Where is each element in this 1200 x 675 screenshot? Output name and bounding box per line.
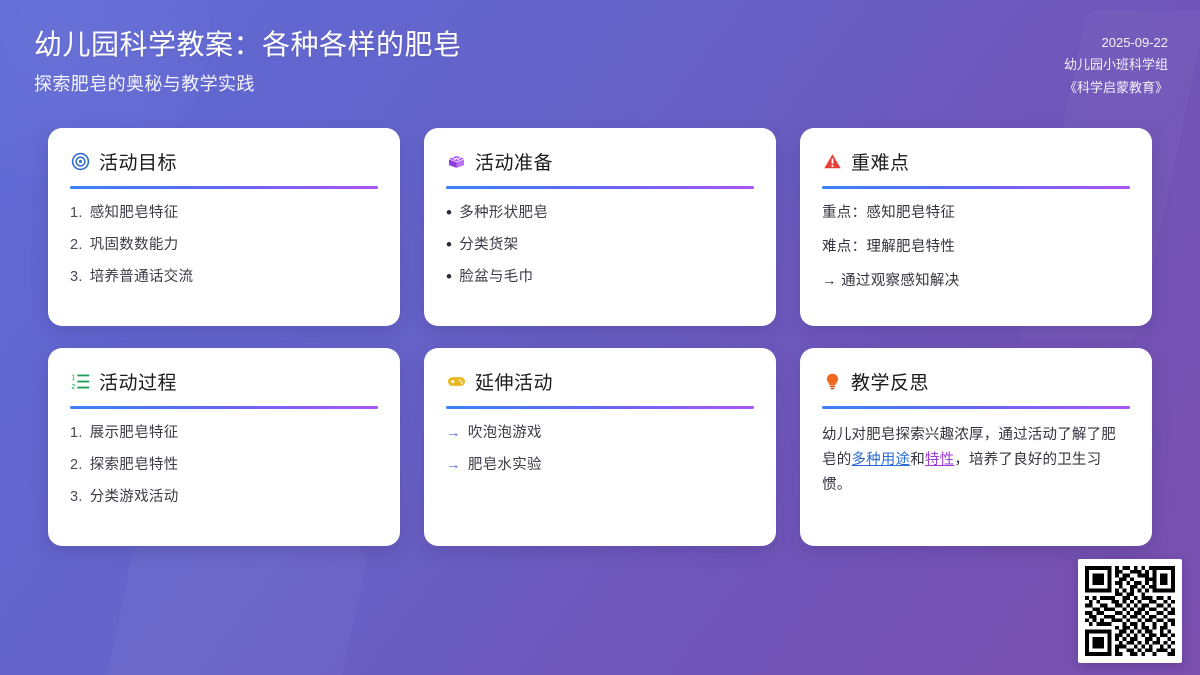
card-body: 1.展示肥皂特征2.探索肥皂特性3.分类游戏活动 bbox=[70, 423, 378, 530]
slide-header: 幼儿园科学教案：各种各样的肥皂 探索肥皂的奥秘与教学实践 2025-09-22 … bbox=[0, 0, 1200, 118]
list-item-label: 多种形状肥皂 bbox=[459, 203, 548, 224]
list-item: →肥皂水实验 bbox=[446, 455, 754, 476]
list-item-label: 吹泡泡游戏 bbox=[468, 423, 542, 444]
list-item-marker: 1. bbox=[70, 423, 83, 444]
list-item-marker: 3. bbox=[70, 267, 83, 288]
card-title: 活动过程 bbox=[99, 368, 177, 395]
list-item-marker: 3. bbox=[70, 487, 83, 508]
list-item-marker: 2. bbox=[70, 455, 83, 476]
list-item: •脸盆与毛巾 bbox=[446, 267, 754, 288]
page-title: 幼儿园科学教案：各种各样的肥皂 bbox=[34, 26, 462, 64]
detail-line: 难点：理解肥皂特性 bbox=[822, 237, 1130, 258]
card-divider bbox=[70, 186, 378, 189]
list-item-marker: • bbox=[446, 203, 452, 223]
header-left-group: 幼儿园科学教案：各种各样的肥皂 探索肥皂的奥秘与教学实践 bbox=[34, 26, 462, 96]
inline-link-uses[interactable]: 多种用途 bbox=[851, 452, 910, 468]
page-subtitle: 探索肥皂的奥秘与教学实践 bbox=[34, 70, 462, 96]
list-item: 1.感知肥皂特征 bbox=[70, 203, 378, 224]
meta-series: 《科学启蒙教育》 bbox=[1064, 77, 1168, 99]
qr-code bbox=[1085, 566, 1175, 656]
list-item-label: 感知肥皂特征 bbox=[90, 203, 179, 224]
detail-line: → 通过观察感知解决 bbox=[822, 271, 1130, 292]
card-header: 活动目标 bbox=[70, 148, 378, 174]
card-body: 1.感知肥皂特征2.巩固数数能力3.培养普通话交流 bbox=[70, 203, 378, 310]
list-item: 3.培养普通话交流 bbox=[70, 267, 378, 288]
meta-date: 2025-09-22 bbox=[1064, 32, 1168, 54]
svg-text:1: 1 bbox=[71, 373, 75, 381]
list-item-label: 分类货架 bbox=[459, 235, 518, 256]
card-body: →吹泡泡游戏→肥皂水实验 bbox=[446, 423, 754, 530]
lightbulb-icon bbox=[822, 371, 842, 391]
card-body: •多种形状肥皂•分类货架•脸盆与毛巾 bbox=[446, 203, 754, 310]
card-preparation: 活动准备•多种形状肥皂•分类货架•脸盆与毛巾 bbox=[424, 128, 776, 326]
card-title: 活动准备 bbox=[475, 148, 553, 175]
header-meta: 2025-09-22 幼儿园小班科学组 《科学启蒙教育》 bbox=[1064, 26, 1168, 99]
card-grid: 活动目标1.感知肥皂特征2.巩固数数能力3.培养普通话交流活动准备•多种形状肥皂… bbox=[48, 128, 1152, 546]
list-item: 3.分类游戏活动 bbox=[70, 487, 378, 508]
card-header: 重难点 bbox=[822, 148, 1130, 174]
list-item-label: 展示肥皂特征 bbox=[90, 423, 179, 444]
list-item-label: 分类游戏活动 bbox=[90, 487, 179, 508]
list-item-marker: • bbox=[446, 235, 452, 255]
card-process: 12活动过程1.展示肥皂特征2.探索肥皂特性3.分类游戏活动 bbox=[48, 348, 400, 546]
list-item: →吹泡泡游戏 bbox=[446, 423, 754, 444]
list-item-label: 肥皂水实验 bbox=[468, 455, 542, 476]
card-divider bbox=[446, 186, 754, 189]
card-divider bbox=[822, 406, 1130, 409]
list-item-marker: → bbox=[446, 423, 461, 444]
paragraph-text-mid: 和 bbox=[910, 452, 925, 468]
card-extension: 延伸活动→吹泡泡游戏→肥皂水实验 bbox=[424, 348, 776, 546]
list-item: 2.巩固数数能力 bbox=[70, 235, 378, 256]
list-item-marker: 1. bbox=[70, 203, 83, 224]
list-item-label: 脸盆与毛巾 bbox=[459, 267, 533, 288]
card-title: 延伸活动 bbox=[475, 368, 553, 395]
inline-link-properties[interactable]: 特性 bbox=[925, 452, 954, 468]
package-icon bbox=[446, 151, 466, 171]
card-title: 重难点 bbox=[851, 148, 910, 175]
list-item: •多种形状肥皂 bbox=[446, 203, 754, 224]
list-item-label: 培养普通话交流 bbox=[90, 267, 194, 288]
card-body: 幼儿对肥皂探索兴趣浓厚，通过活动了解了肥皂的多种用途和特性，培养了良好的卫生习惯… bbox=[822, 423, 1130, 530]
card-header: 12活动过程 bbox=[70, 368, 378, 394]
gamepad-icon bbox=[446, 371, 466, 391]
card-key-difficulties: 重难点重点：感知肥皂特征难点：理解肥皂特性→ 通过观察感知解决 bbox=[800, 128, 1152, 326]
qr-code-panel[interactable] bbox=[1078, 559, 1182, 663]
list-item: •分类货架 bbox=[446, 235, 754, 256]
card-divider bbox=[446, 406, 754, 409]
card-divider bbox=[822, 186, 1130, 189]
list-item: 1.展示肥皂特征 bbox=[70, 423, 378, 444]
list-item-marker: → bbox=[446, 455, 461, 476]
card-divider bbox=[70, 406, 378, 409]
card-reflection: 教学反思幼儿对肥皂探索兴趣浓厚，通过活动了解了肥皂的多种用途和特性，培养了良好的… bbox=[800, 348, 1152, 546]
card-title: 活动目标 bbox=[99, 148, 177, 175]
card-body: 重点：感知肥皂特征难点：理解肥皂特性→ 通过观察感知解决 bbox=[822, 203, 1130, 310]
list-item-marker: • bbox=[446, 267, 452, 287]
svg-text:2: 2 bbox=[71, 383, 75, 391]
card-header: 活动准备 bbox=[446, 148, 754, 174]
reflection-paragraph: 幼儿对肥皂探索兴趣浓厚，通过活动了解了肥皂的多种用途和特性，培养了良好的卫生习惯… bbox=[822, 423, 1130, 498]
card-title: 教学反思 bbox=[851, 368, 929, 395]
numbered-list-icon: 12 bbox=[70, 371, 90, 391]
list-item-label: 巩固数数能力 bbox=[90, 235, 179, 256]
warning-triangle-icon bbox=[822, 151, 842, 171]
list-item-marker: 2. bbox=[70, 235, 83, 256]
card-header: 延伸活动 bbox=[446, 368, 754, 394]
list-item-label: 探索肥皂特性 bbox=[90, 455, 179, 476]
list-item: 2.探索肥皂特性 bbox=[70, 455, 378, 476]
card-header: 教学反思 bbox=[822, 368, 1130, 394]
card-objectives: 活动目标1.感知肥皂特征2.巩固数数能力3.培养普通话交流 bbox=[48, 128, 400, 326]
meta-org: 幼儿园小班科学组 bbox=[1064, 54, 1168, 76]
target-icon bbox=[70, 151, 90, 171]
detail-line: 重点：感知肥皂特征 bbox=[822, 203, 1130, 224]
